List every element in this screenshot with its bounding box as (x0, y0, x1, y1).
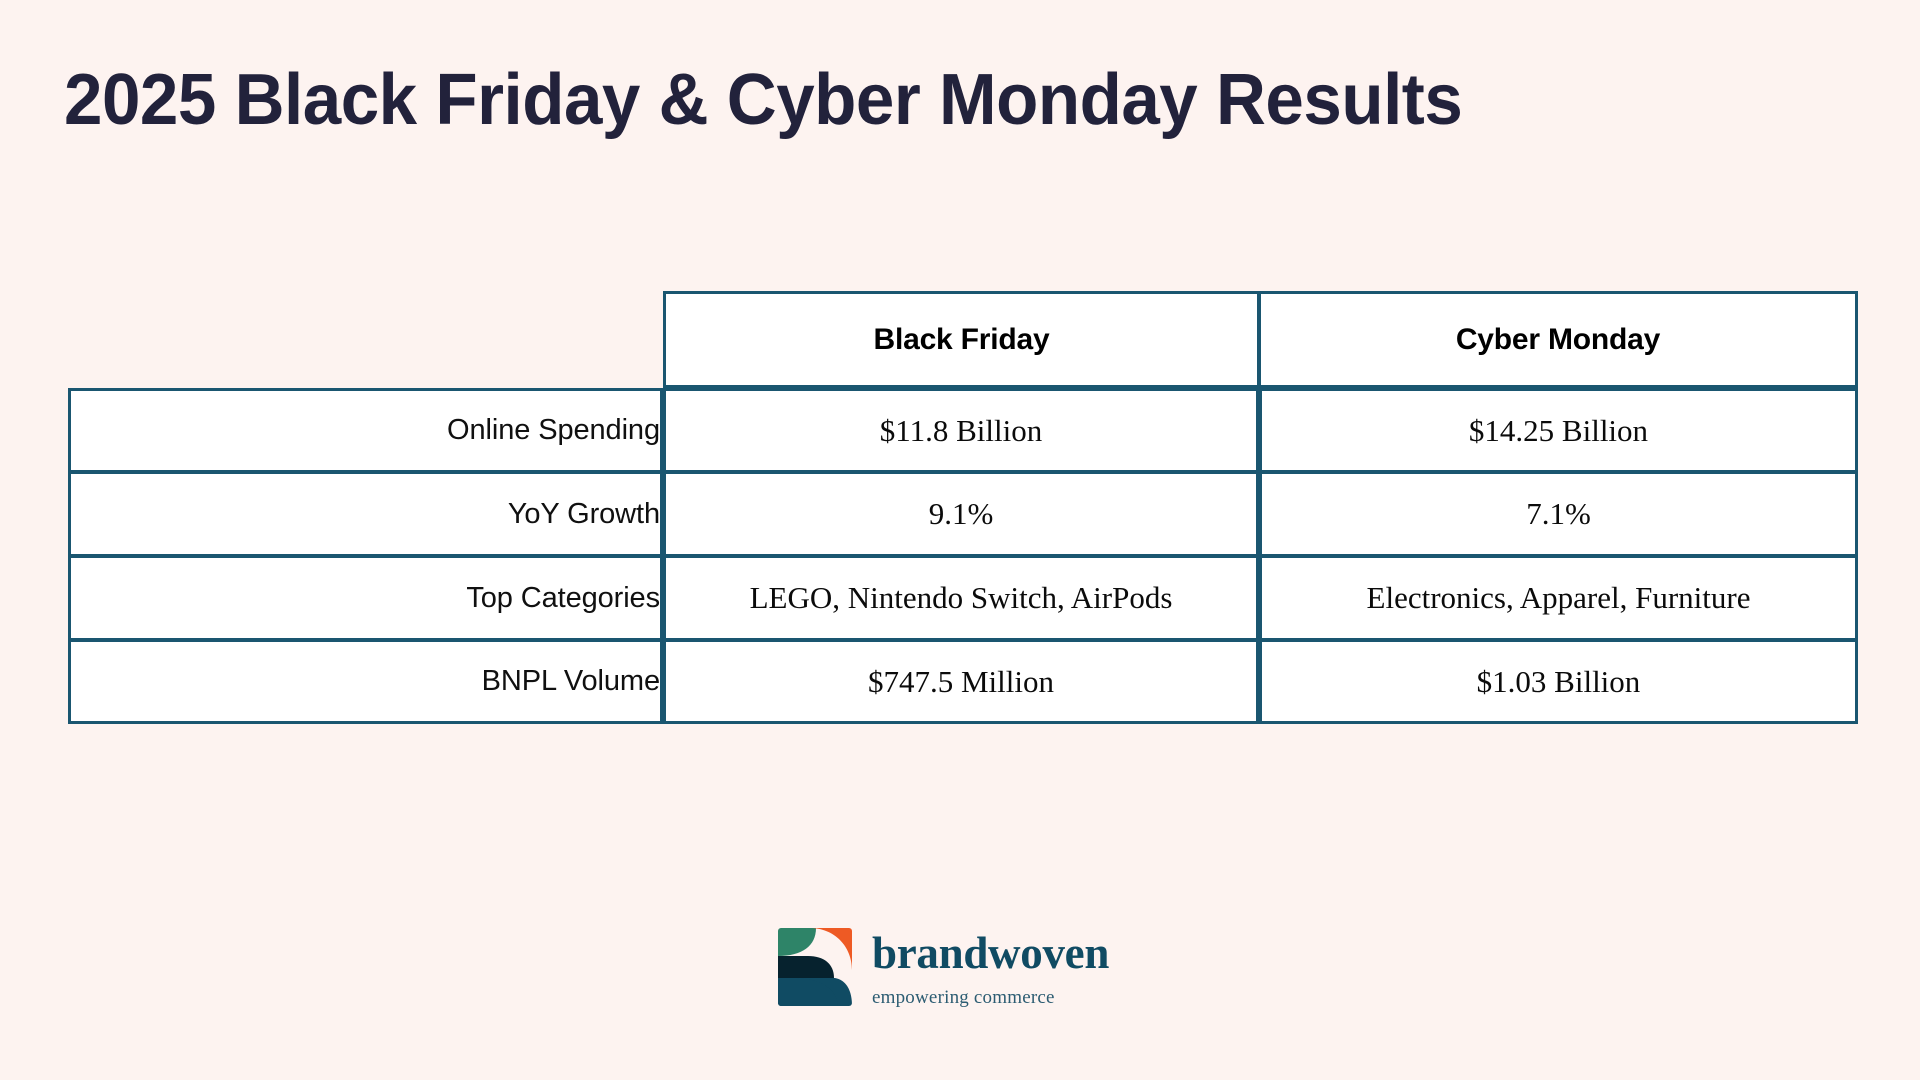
logo-wordmark: brandwoven (872, 931, 1109, 976)
cell-top-categories-black-friday: LEGO, Nintendo Switch, AirPods (663, 556, 1259, 640)
cell-online-spending-cyber-monday: $14.25 Billion (1259, 388, 1858, 472)
table-row: Top Categories LEGO, Nintendo Switch, Ai… (68, 556, 1858, 640)
brandwoven-logo-icon (778, 928, 852, 1006)
logo-tagline: empowering commerce (872, 988, 1109, 1007)
comparison-table-wrapper: Black Friday Cyber Monday Online Spendin… (68, 291, 1858, 724)
row-label-online-spending: Online Spending (68, 388, 663, 472)
cell-bnpl-volume-black-friday: $747.5 Million (663, 640, 1259, 724)
cell-yoy-growth-cyber-monday: 7.1% (1259, 472, 1858, 556)
table-corner-cell (68, 291, 663, 388)
row-label-top-categories: Top Categories (68, 556, 663, 640)
cell-online-spending-black-friday: $11.8 Billion (663, 388, 1259, 472)
column-header-cyber-monday: Cyber Monday (1259, 291, 1858, 388)
cell-yoy-growth-black-friday: 9.1% (663, 472, 1259, 556)
row-label-yoy-growth: YoY Growth (68, 472, 663, 556)
brand-logo: brandwoven empowering commerce (778, 928, 1109, 1007)
table-row: BNPL Volume $747.5 Million $1.03 Billion (68, 640, 1858, 724)
cell-bnpl-volume-cyber-monday: $1.03 Billion (1259, 640, 1858, 724)
column-header-black-friday: Black Friday (663, 291, 1259, 388)
slide-canvas: 2025 Black Friday & Cyber Monday Results… (0, 0, 1920, 1080)
logo-text-group: brandwoven empowering commerce (872, 928, 1109, 1007)
table-header-row: Black Friday Cyber Monday (68, 291, 1858, 388)
cell-top-categories-cyber-monday: Electronics, Apparel, Furniture (1259, 556, 1858, 640)
row-label-bnpl-volume: BNPL Volume (68, 640, 663, 724)
page-title: 2025 Black Friday & Cyber Monday Results (64, 62, 1792, 140)
table-row: YoY Growth 9.1% 7.1% (68, 472, 1858, 556)
table-row: Online Spending $11.8 Billion $14.25 Bil… (68, 388, 1858, 472)
comparison-table: Black Friday Cyber Monday Online Spendin… (68, 291, 1858, 724)
